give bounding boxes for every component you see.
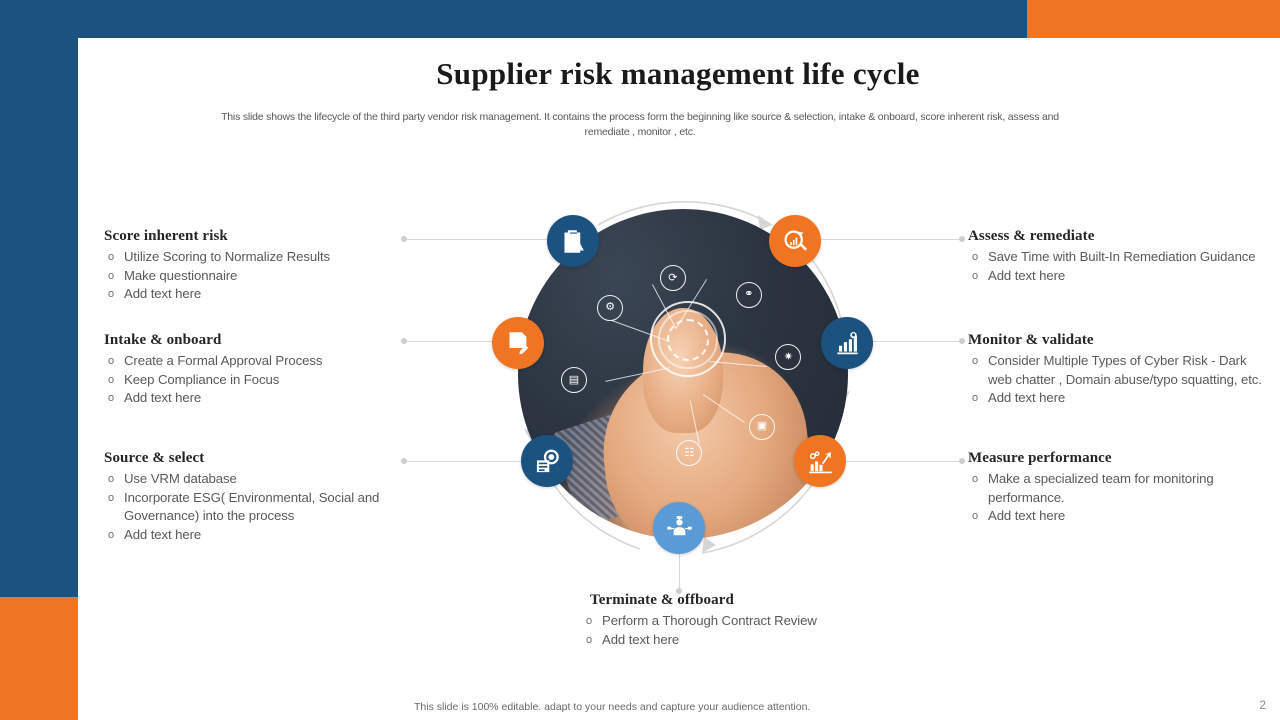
target-list-icon	[534, 448, 561, 475]
connector-monitor-validate	[872, 341, 962, 342]
stage-block-intake-onboard: Intake & onboard Create a Formal Approva…	[104, 332, 384, 408]
stage-icon-score-inherent-risk[interactable]	[547, 215, 599, 267]
bar-chart-gear-icon	[834, 330, 861, 357]
page-title: Supplier risk management life cycle	[118, 56, 1238, 92]
left-orange-panel	[0, 597, 78, 720]
stage-bullets-terminate-offboard: Perform a Thorough Contract Review Add t…	[582, 612, 912, 649]
list-item: Add text here	[968, 507, 1258, 526]
stage-bullets-intake-onboard: Create a Formal Approval Process Keep Co…	[104, 352, 384, 408]
page-number: 2	[1259, 698, 1266, 712]
hud-monitor-icon: ▣	[749, 414, 775, 440]
connector-dot-monitor-validate	[959, 338, 965, 344]
footer-note: This slide is 100% editable. adapt to yo…	[414, 701, 810, 713]
hud-settings-icon: ✷	[775, 344, 801, 370]
list-item: Consider Multiple Types of Cyber Risk - …	[968, 352, 1273, 389]
person-network-icon	[666, 515, 693, 542]
stage-title-monitor-validate: Monitor & validate	[968, 332, 1273, 349]
stage-block-terminate-offboard: Terminate & offboard Perform a Thorough …	[582, 592, 912, 649]
stage-title-source-select: Source & select	[104, 450, 389, 467]
hud-link-icon: ⚭	[736, 282, 762, 308]
stage-block-measure-performance: Measure performance Make a specialized t…	[968, 450, 1258, 526]
stage-bullets-assess-remediate: Save Time with Built-In Remediation Guid…	[968, 248, 1268, 285]
connector-dot-intake-onboard	[401, 338, 407, 344]
list-item: Add text here	[582, 631, 912, 650]
list-item: Make questionnaire	[104, 267, 404, 286]
stage-icon-source-select[interactable]	[521, 435, 573, 487]
stage-title-intake-onboard: Intake & onboard	[104, 332, 384, 349]
clipboard-warning-icon	[560, 228, 587, 255]
hud-refresh-icon: ⟳	[660, 265, 686, 291]
list-item: Incorporate ESG( Environmental, Social a…	[104, 489, 389, 526]
document-pen-icon	[505, 330, 532, 357]
stage-title-assess-remediate: Assess & remediate	[968, 228, 1268, 245]
list-item: Add text here	[968, 389, 1273, 408]
hud-gear-icon: ⚙	[597, 295, 623, 321]
top-blue-bar	[0, 0, 1027, 38]
connector-dot-source-select	[401, 458, 407, 464]
stage-title-terminate-offboard: Terminate & offboard	[582, 592, 912, 609]
stage-icon-measure-performance[interactable]	[794, 435, 846, 487]
stage-bullets-monitor-validate: Consider Multiple Types of Cyber Risk - …	[968, 352, 1273, 408]
page-subtitle: This slide shows the lifecycle of the th…	[200, 110, 1080, 140]
list-item: Utilize Scoring to Normalize Results	[104, 248, 404, 267]
left-blue-panel	[0, 0, 78, 597]
top-orange-bar	[1027, 0, 1280, 38]
stage-icon-terminate-offboard[interactable]	[653, 502, 705, 554]
list-item: Add text here	[104, 285, 404, 304]
list-item: Make a specialized team for monitoring p…	[968, 470, 1258, 507]
magnifier-chart-icon	[782, 228, 809, 255]
connector-dot-assess-remediate	[959, 236, 965, 242]
list-item: Create a Formal Approval Process	[104, 352, 384, 371]
stage-block-source-select: Source & select Use VRM database Incorpo…	[104, 450, 389, 544]
stage-block-monitor-validate: Monitor & validate Consider Multiple Typ…	[968, 332, 1273, 408]
list-item: Use VRM database	[104, 470, 389, 489]
stage-title-measure-performance: Measure performance	[968, 450, 1258, 467]
stage-block-score-inherent-risk: Score inherent risk Utilize Scoring to N…	[104, 228, 404, 304]
stage-block-assess-remediate: Assess & remediate Save Time with Built-…	[968, 228, 1268, 285]
list-item: Keep Compliance in Focus	[104, 371, 384, 390]
list-item: Add text here	[104, 526, 389, 545]
stage-bullets-score-inherent-risk: Utilize Scoring to Normalize Results Mak…	[104, 248, 404, 304]
list-item: Add text here	[104, 389, 384, 408]
stage-bullets-source-select: Use VRM database Incorporate ESG( Enviro…	[104, 470, 389, 544]
stage-title-score-inherent-risk: Score inherent risk	[104, 228, 404, 245]
list-item: Perform a Thorough Contract Review	[582, 612, 912, 631]
connector-dot-measure-performance	[959, 458, 965, 464]
stage-icon-assess-remediate[interactable]	[769, 215, 821, 267]
list-item: Save Time with Built-In Remediation Guid…	[968, 248, 1268, 267]
list-item: Add text here	[968, 267, 1268, 286]
stage-icon-intake-onboard[interactable]	[492, 317, 544, 369]
growth-chart-icon	[807, 448, 834, 475]
stage-icon-monitor-validate[interactable]	[821, 317, 873, 369]
hud-grid-icon: ▤	[561, 367, 587, 393]
stage-bullets-measure-performance: Make a specialized team for monitoring p…	[968, 470, 1258, 526]
